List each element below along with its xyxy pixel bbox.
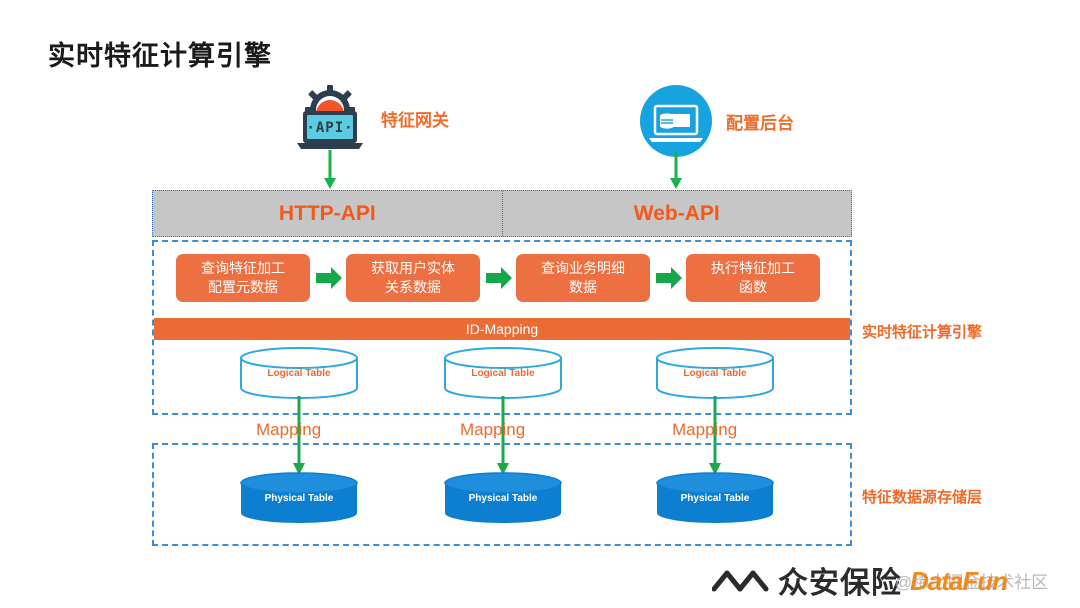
api-header-bar: HTTP-API Web-API — [152, 190, 852, 237]
step-box-3[interactable]: 查询业务明细 数据 — [516, 254, 650, 302]
mapping-label-2: Mapping — [460, 420, 525, 440]
arrow-step-2-to-3 — [486, 267, 512, 289]
arrow-gateway-to-http-api — [323, 150, 337, 190]
physical-table-2[interactable]: Physical Table — [444, 472, 562, 524]
physical-table-1[interactable]: Physical Table — [240, 472, 358, 524]
source-label-feature-gateway: 特征网关 — [381, 106, 449, 131]
physical-table-3[interactable]: Physical Table — [656, 472, 774, 524]
watermark-datafun: DataFun — [910, 566, 1007, 597]
brand-name: 众安保险 — [778, 558, 902, 602]
logical-table-3[interactable]: Logical Table — [656, 347, 774, 399]
side-label-storage: 特征数据源存储层 — [862, 486, 982, 507]
source-label-config-backend: 配置后台 — [726, 109, 794, 134]
side-label-engine: 实时特征计算引擎 — [862, 321, 982, 342]
step-box-2[interactable]: 获取用户实体 关系数据 — [346, 254, 480, 302]
arrow-step-3-to-4 — [656, 267, 682, 289]
slide-canvas: 实时特征计算引擎 — [0, 0, 1080, 608]
arrow-config-to-web-api — [669, 152, 683, 190]
mapping-label-1: Mapping — [256, 420, 321, 440]
page-title: 实时特征计算引擎 — [48, 34, 272, 73]
api-cell-http[interactable]: HTTP-API — [153, 191, 502, 236]
source-config-backend[interactable]: 配置后台 — [640, 85, 794, 157]
chevrons-icon — [712, 563, 770, 597]
step-box-4[interactable]: 执行特征加工 函数 — [686, 254, 820, 302]
svg-text:·API·: ·API· — [306, 120, 353, 136]
logical-table-1[interactable]: Logical Table — [240, 347, 358, 399]
id-mapping-bar: ID-Mapping — [154, 318, 850, 340]
mapping-label-3: Mapping — [672, 420, 737, 440]
source-feature-gateway[interactable]: ·API· 特征网关 — [293, 84, 449, 152]
laptop-database-circle-icon — [640, 85, 712, 157]
brand-logo-zhongan: 众安保险 — [712, 560, 902, 600]
laptop-api-gear-icon: ·API· — [293, 84, 367, 152]
logical-table-2[interactable]: Logical Table — [444, 347, 562, 399]
step-box-1[interactable]: 查询特征加工 配置元数据 — [176, 254, 310, 302]
api-cell-web[interactable]: Web-API — [502, 191, 852, 236]
arrow-step-1-to-2 — [316, 267, 342, 289]
